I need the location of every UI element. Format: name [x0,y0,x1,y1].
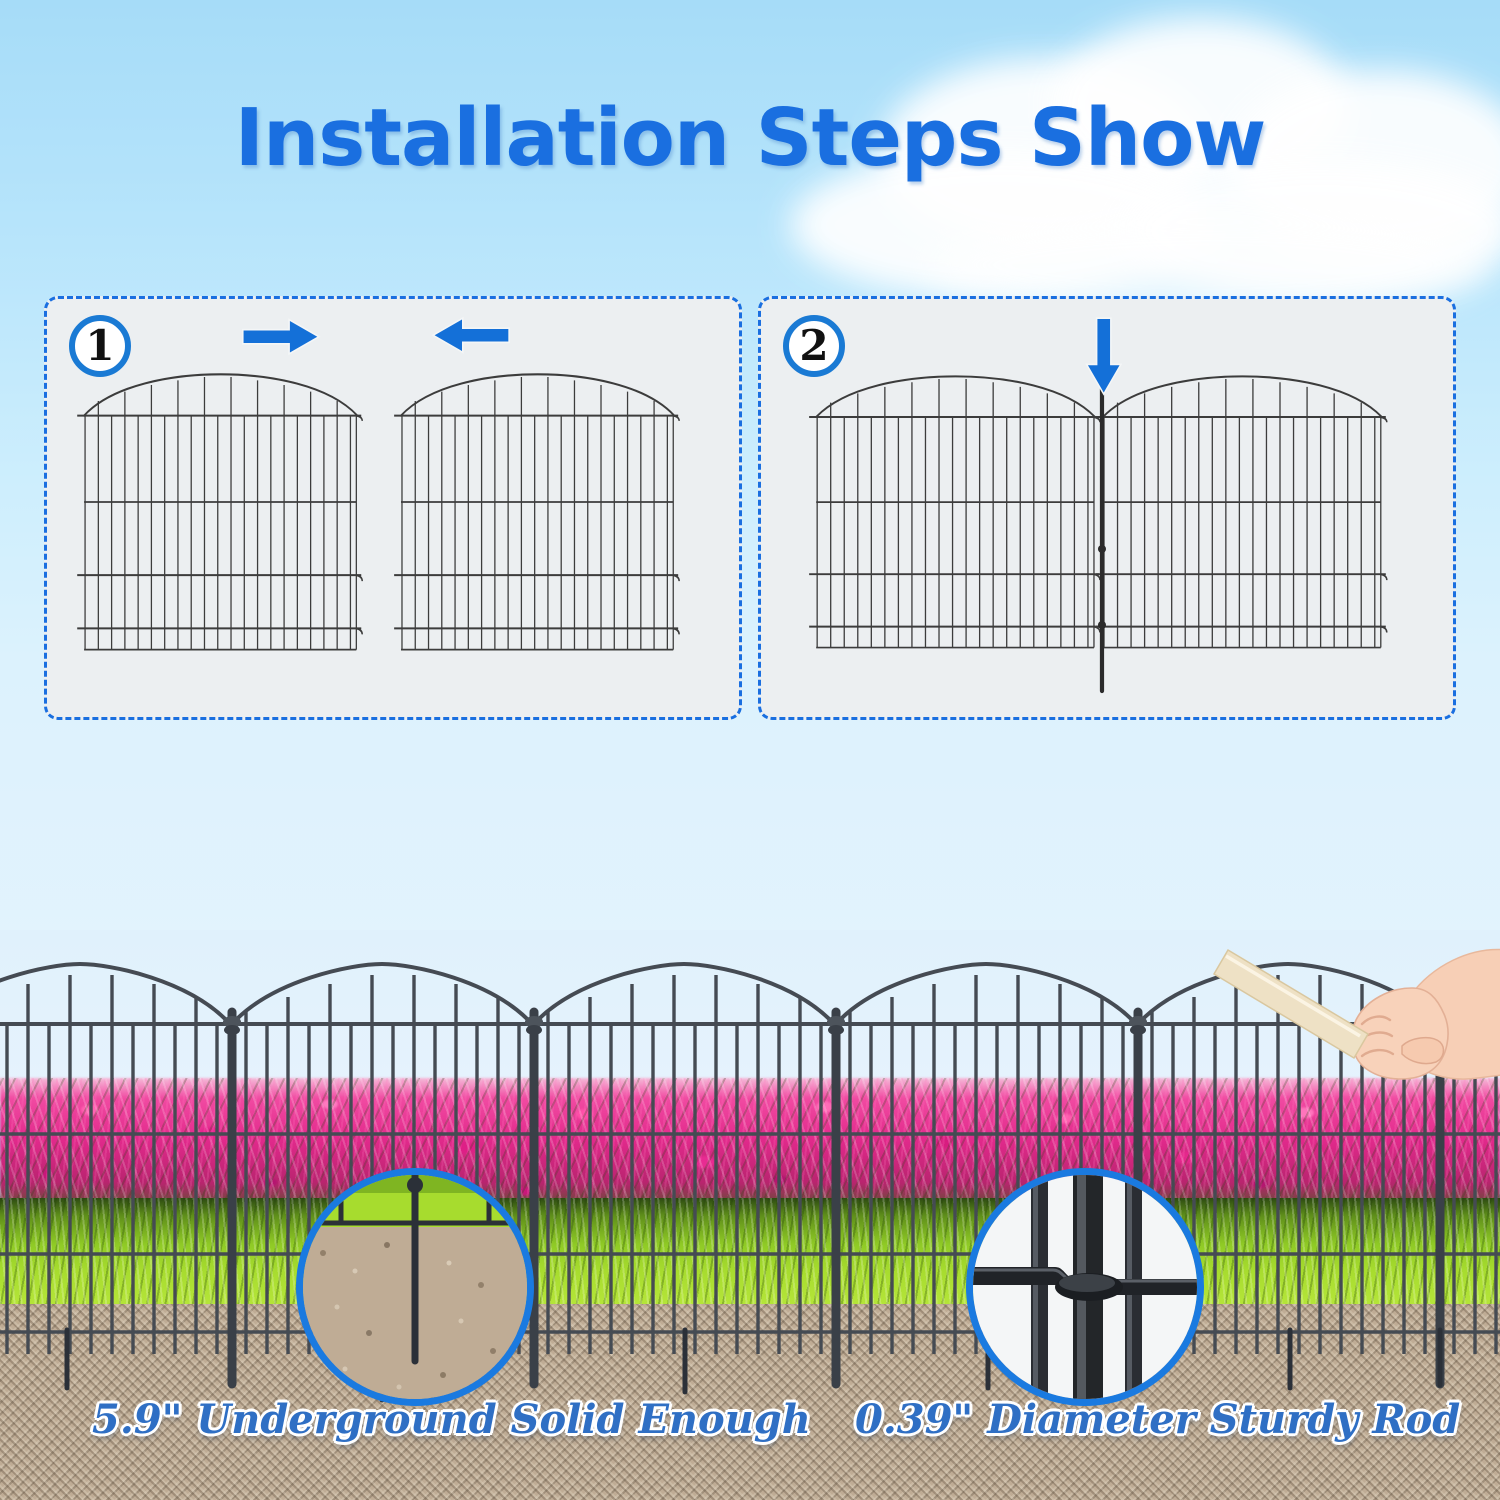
step-2-diagram [761,299,1453,717]
ground-stake-group [67,1330,1440,1400]
step-1-panel: 1 [44,296,742,720]
arrow-down-icon [1088,319,1120,393]
step-1-fence-panel-right [394,374,679,649]
magnifier-rod-joint [966,1168,1204,1406]
arrow-right-icon [244,321,318,353]
step-1-fence-panel-left [77,374,362,649]
magnifier-underground-stake [296,1168,534,1406]
caption-underground-depth: 5.9" Underground Solid Enough [92,1396,811,1443]
step-2-panel: 2 [758,296,1456,720]
infographic-stage: Installation Steps Show 1 [0,0,1500,1500]
caption-rod-diameter: 0.39" Diameter Sturdy Rod [855,1396,1460,1443]
hand-holding-mallet [1110,930,1500,1138]
arrow-left-icon [435,320,509,352]
center-stake [1098,375,1106,691]
step-2-fence-panel-left [809,376,1100,647]
step-2-fence-panel-right [1096,376,1387,647]
step-1-diagram [47,299,739,717]
installation-steps-row: 1 [44,296,1456,720]
page-title: Installation Steps Show [0,92,1500,184]
